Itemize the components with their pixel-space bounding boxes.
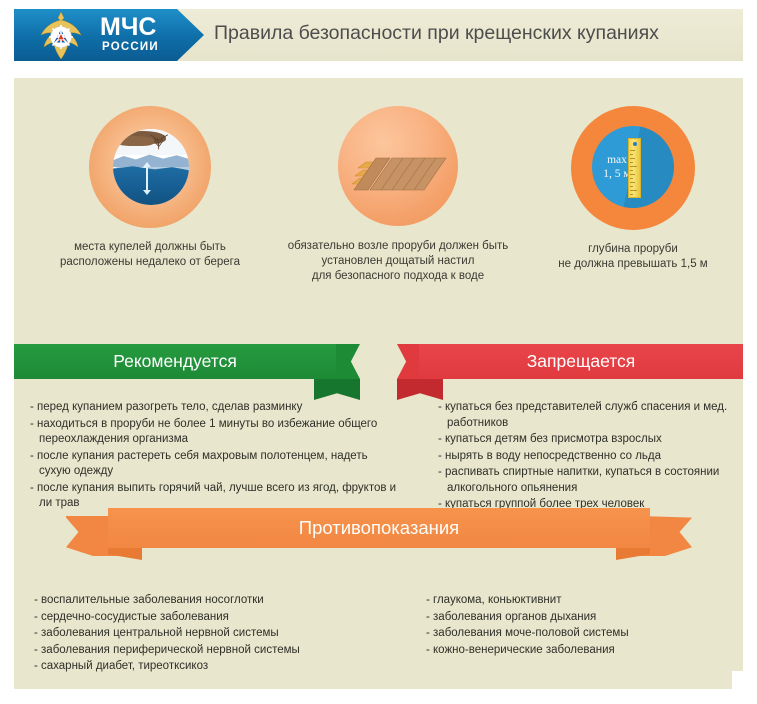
ruler-icon [628,138,641,198]
riverbank-depth-icon [89,106,211,228]
list-item: - заболевания органов дыхания [426,610,746,626]
banner-row: Рекомендуется Запрещается [14,344,743,390]
wooden-plank-deck-icon [338,106,458,226]
contraindications-banner: Противопоказания [66,508,692,556]
mchs-eagle-emblem-icon [32,11,90,61]
prohibited-banner-label: Запрещается [419,344,743,379]
contraindications-list-left: - воспалительные заболевания носоглотки-… [34,593,414,676]
list-item: - купаться без представителей служб спас… [438,400,750,431]
infographic-body: места купелей должны бытьрасположены нед… [14,78,743,689]
list-item: - воспалительные заболевания носоглотки [34,593,414,609]
list-item: - сахарный диабет, тиреотксикоз [34,659,414,675]
info-circle-caption-2: обязательно возле проруби должен бытьуст… [270,239,526,284]
ruler-depth-icon: max1, 5 м [571,106,695,230]
brand-name-main: МЧС [100,15,159,40]
info-circle-block-2: обязательно возле проруби должен бытьуст… [270,106,526,284]
list-item: - купаться детям без присмотра взрослых [438,432,750,448]
contraindications-banner-label: Противопоказания [108,508,650,548]
list-item: - заболевания центральной нервной систем… [34,626,414,642]
list-item: - находиться в проруби не более 1 минуты… [30,417,402,448]
list-item: - глаукома, коньюктивнит [426,593,746,609]
brand-name-sub: РОССИИ [102,42,159,54]
info-circle-block-3: max1, 5 м глубин [528,106,738,272]
info-circle-caption-3: глубина прорубине должна превышать 1,5 м [528,242,738,272]
list-item: - кожно-венерические заболевания [426,643,746,659]
list-item: - перед купанием разогреть тело, сделав … [30,400,402,416]
list-item: - заболевания периферической нервной сис… [34,643,414,659]
page-title: Правила безопасности при крещенских купа… [214,22,659,45]
brand-wordmark: МЧС РОССИИ [100,15,159,54]
list-item: - после купания растереть себя махровым … [30,449,402,480]
recommended-list: - перед купанием разогреть тело, сделав … [30,400,402,513]
list-item: - нырять в воду непосредственно со льда [438,449,750,465]
list-item: - сердечно-сосудистые заболевания [34,610,414,626]
header-bar: МЧС РОССИИ Правила безопасности при крещ… [14,9,743,61]
info-circle-block-1: места купелей должны бытьрасположены нед… [32,106,268,270]
list-item: - после купания выпить горячий чай, лучш… [30,481,402,512]
list-item: - заболевания моче-половой системы [426,626,746,642]
prohibited-list: - купаться без представителей служб спас… [438,400,750,514]
list-item: - распивать спиртные напитки, купаться в… [438,465,750,496]
info-circle-caption-1: места купелей должны бытьрасположены нед… [32,240,268,270]
contraindications-list-right: - глаукома, коньюктивнит- заболевания ор… [426,593,746,659]
recommended-banner-label: Рекомендуется [14,344,336,379]
